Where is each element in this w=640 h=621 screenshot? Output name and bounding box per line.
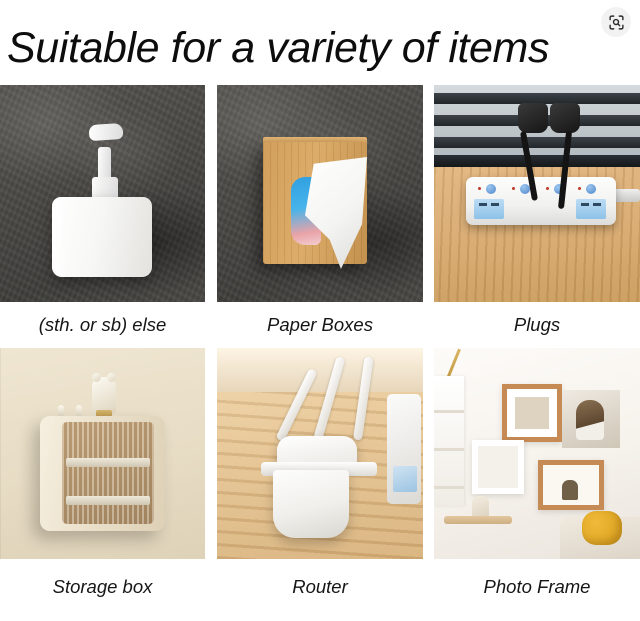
yellow-knot-cushion [582,511,622,545]
wall-shelf-unit [434,376,464,506]
scan-search-button[interactable] [601,7,631,37]
power-strip-cable-end [612,189,640,202]
soap-pump-head [88,123,123,141]
photo-router[interactable] [217,348,423,559]
gallery-cell-router[interactable]: Router [217,348,423,610]
photo-storage-box[interactable] [0,348,205,559]
desk-edge [434,155,640,167]
power-switch[interactable] [586,184,596,194]
gallery-row: Storage box Router [0,348,640,610]
shelf-board [434,410,464,413]
photo-photo-frame-wall[interactable] [434,348,640,559]
shelf-board [434,486,464,489]
photo-plugs[interactable] [434,85,640,302]
page-header: Suitable for a variety of items [0,0,640,85]
picture-frame-landscape [538,460,604,510]
gallery-cell-plugs[interactable]: Plugs [434,85,640,348]
gallery-grid: (sth. or sb) else Paper Boxes [0,85,640,610]
frame-mat [478,446,518,488]
storage-box-shelf [66,496,150,505]
soap-bottle-body [52,197,152,277]
caption-photo-frame: Photo Frame [434,559,640,610]
ceiling-beam [217,348,423,392]
caption-plugs: Plugs [434,302,640,348]
gallery-row: (sth. or sb) else Paper Boxes [0,85,640,348]
caption-paper-boxes: Paper Boxes [217,302,423,348]
gallery-cell-paper-boxes[interactable]: Paper Boxes [217,85,423,348]
photo-paper-boxes[interactable] [217,85,423,302]
indicator-light [578,187,581,190]
picture-frame-tan [502,384,562,442]
indicator-light [478,187,481,190]
caption-sth-or-sb-else: (sth. or sb) else [0,302,205,348]
gallery-cell-sth-or-sb-else[interactable]: (sth. or sb) else [0,85,205,348]
side-unit-label [393,466,417,492]
black-plug [550,103,580,133]
caption-storage-box: Storage box [0,559,205,610]
indicator-light [512,187,515,190]
side-table [444,516,512,524]
storage-box-translucent-door[interactable] [62,422,154,524]
decor-vase [472,496,489,518]
photo-soap-dispenser[interactable] [0,85,205,302]
power-strip-body [466,177,616,225]
power-switch[interactable] [486,184,496,194]
gallery-cell-photo-frame[interactable]: Photo Frame [434,348,640,610]
canvas-portrait [562,390,620,448]
shelf-board [434,448,464,451]
scan-search-icon [608,14,625,31]
storage-box-shelf [66,458,150,467]
picture-frame-white [472,440,524,494]
artwork-shell [515,397,549,429]
page-title: Suitable for a variety of items [7,23,549,73]
power-socket [576,199,606,219]
indicator-light [546,187,549,190]
gallery-cell-storage-box[interactable]: Storage box [0,348,205,610]
router-front-panel [273,470,349,538]
power-socket [474,199,504,219]
caption-router: Router [217,559,423,610]
black-plug [518,103,548,133]
artwork-bird [562,480,578,500]
window-blind-slat [434,137,640,148]
